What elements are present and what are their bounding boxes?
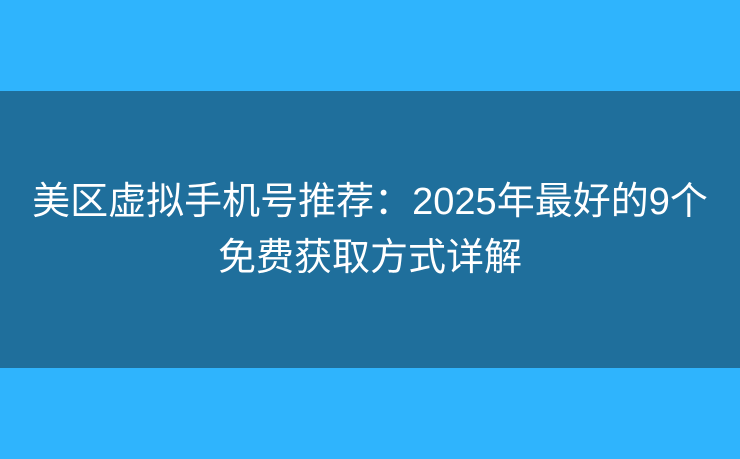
page-title: 美区虚拟手机号推荐：2025年最好的9个免费获取方式详解 [28,174,712,286]
bottom-accent-band [0,368,740,459]
title-card: 美区虚拟手机号推荐：2025年最好的9个免费获取方式详解 [0,0,740,459]
top-accent-band [0,0,740,91]
headline-banner: 美区虚拟手机号推荐：2025年最好的9个免费获取方式详解 [0,91,740,368]
